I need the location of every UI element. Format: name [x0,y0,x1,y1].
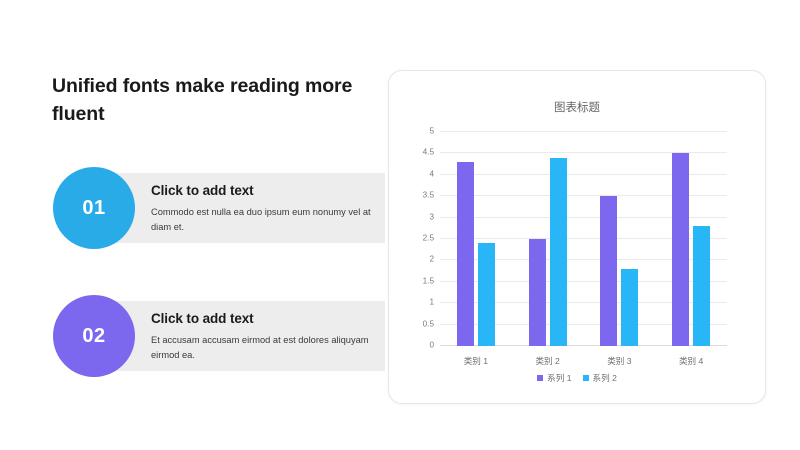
chart-y-tick-label: 0 [429,341,434,350]
list-item-heading: Click to add text [151,183,379,198]
chart-y-tick-label: 5 [429,127,434,136]
chart-bar[interactable] [600,196,617,346]
chart-y-tick-label: 0.5 [423,319,434,328]
chart-bar-group: 类别 4 [655,132,727,346]
chart-legend-swatch [537,375,543,381]
chart-legend: 系列 1系列 2 [389,372,765,384]
chart-y-tick-label: 4 [429,169,434,178]
chart-y-tick-label: 1.5 [423,276,434,285]
list-item[interactable]: 01 Click to add text Commodo est nulla e… [53,173,385,243]
chart-bar[interactable] [550,158,567,346]
chart-legend-entry[interactable]: 系列 2 [583,372,617,384]
chart-y-tick-label: 1 [429,298,434,307]
chart-card[interactable]: 图表标题 00.511.522.533.544.55 类别 1类别 2类别 3类… [388,70,766,404]
page-title: Unified fonts make reading more fluent [52,73,382,128]
chart-legend-swatch [583,375,589,381]
list-item-body: Et accusam accusam eirmod at est dolores… [151,333,379,363]
list-item[interactable]: 02 Click to add text Et accusam accusam … [53,301,385,371]
chart-category-label: 类别 2 [512,355,584,367]
list-item-body: Commodo est nulla ea duo ipsum eum nonum… [151,205,379,235]
list-item-number: 02 [82,325,105,348]
chart-title: 图表标题 [389,99,765,115]
chart-category-label: 类别 1 [440,355,512,367]
chart-bar[interactable] [457,162,474,346]
chart-bar[interactable] [478,243,495,346]
list-item-number: 01 [82,197,105,220]
chart-category-label: 类别 3 [584,355,656,367]
chart-bar-groups: 类别 1类别 2类别 3类别 4 [440,132,727,346]
list-item-text: Click to add text Commodo est nulla ea d… [151,183,379,235]
list-item-number-badge: 02 [53,295,135,377]
chart-y-tick-label: 3.5 [423,191,434,200]
chart-y-tick-label: 2 [429,255,434,264]
chart-y-tick-label: 4.5 [423,148,434,157]
list-item-number-badge: 01 [53,167,135,249]
chart-legend-label: 系列 2 [593,372,617,384]
chart-bar-group: 类别 3 [584,132,656,346]
chart-bar-group: 类别 1 [440,132,512,346]
chart-plot-area: 00.511.522.533.544.55 类别 1类别 2类别 3类别 4 [440,132,727,346]
chart-y-tick-label: 3 [429,212,434,221]
list-item-text: Click to add text Et accusam accusam eir… [151,311,379,363]
chart-legend-entry[interactable]: 系列 1 [537,372,571,384]
chart-bar-group: 类别 2 [512,132,584,346]
chart-bar[interactable] [529,239,546,346]
chart-bar[interactable] [693,226,710,346]
chart-category-label: 类别 4 [655,355,727,367]
chart-legend-label: 系列 1 [547,372,571,384]
chart-y-tick-label: 2.5 [423,234,434,243]
chart-bar[interactable] [672,153,689,346]
list-item-heading: Click to add text [151,311,379,326]
chart-bar[interactable] [621,269,638,346]
